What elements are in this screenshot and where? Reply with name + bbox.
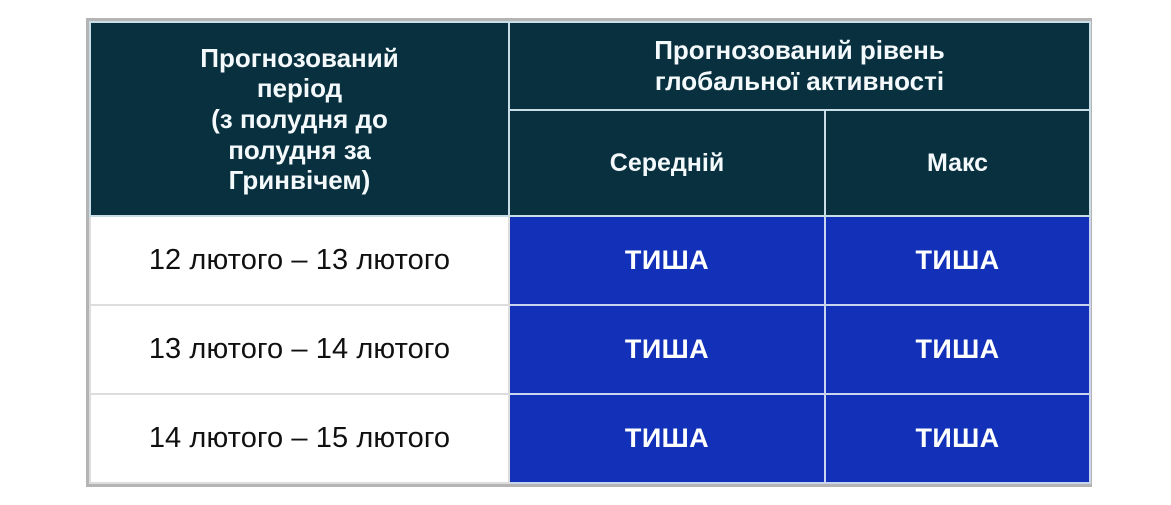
cell-period: 12 лютого – 13 лютого [90, 216, 509, 305]
cell-mean-level: ТИША [509, 394, 825, 483]
cell-period: 13 лютого – 14 лютого [90, 305, 509, 394]
period-header-line-5: Гринвічем) [105, 165, 494, 196]
cell-max-level: ТИША [825, 305, 1090, 394]
table-header: Прогнозований період (з полудня до полуд… [90, 22, 1090, 216]
header-row-primary: Прогнозований період (з полудня до полуд… [90, 22, 1090, 110]
forecast-table-container: Прогнозований період (з полудня до полуд… [86, 18, 1092, 487]
period-header-line-3: (з полудня до [105, 104, 494, 135]
period-header-line-2: період [105, 73, 494, 104]
table-row: 12 лютого – 13 лютого ТИША ТИША [90, 216, 1090, 305]
table-row: 14 лютого – 15 лютого ТИША ТИША [90, 394, 1090, 483]
period-header-line-1: Прогнозований [105, 43, 494, 74]
column-header-activity-group: Прогнозований рівень глобальної активнос… [509, 22, 1090, 110]
column-header-max: Макс [825, 110, 1090, 216]
column-header-mean: Середній [509, 110, 825, 216]
cell-mean-level: ТИША [509, 216, 825, 305]
cell-max-level: ТИША [825, 394, 1090, 483]
table-body: 12 лютого – 13 лютого ТИША ТИША 13 лютог… [90, 216, 1090, 483]
table-row: 13 лютого – 14 лютого ТИША ТИША [90, 305, 1090, 394]
forecast-table: Прогнозований період (з полудня до полуд… [89, 21, 1091, 484]
period-header-line-4: полудня за [105, 135, 494, 166]
cell-max-level: ТИША [825, 216, 1090, 305]
page-root: Прогнозований період (з полудня до полуд… [0, 0, 1171, 505]
activity-header-line-2: глобальної активності [532, 66, 1067, 97]
activity-header-line-1: Прогнозований рівень [532, 35, 1067, 66]
cell-period: 14 лютого – 15 лютого [90, 394, 509, 483]
cell-mean-level: ТИША [509, 305, 825, 394]
column-header-period: Прогнозований період (з полудня до полуд… [90, 22, 509, 216]
